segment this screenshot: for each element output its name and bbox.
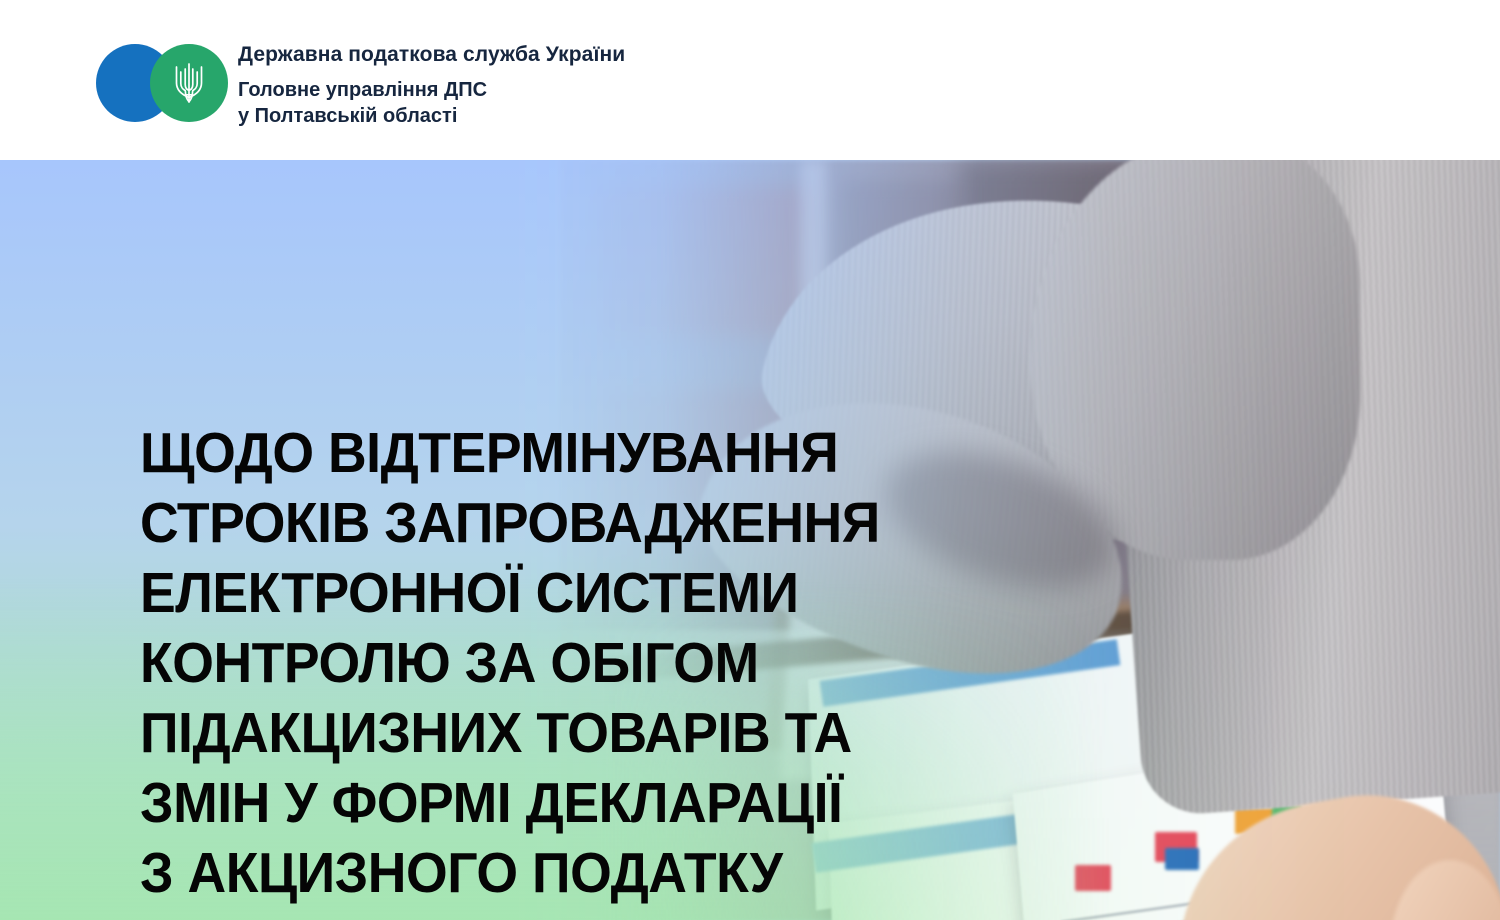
headline-line-2: СТРОКІВ ЗАПРОВАДЖЕННЯ: [140, 488, 920, 558]
hero-section: ЩОДО ВІДТЕРМІНУВАННЯ СТРОКІВ ЗАПРОВАДЖЕН…: [0, 160, 1500, 920]
headline-line-4: КОНТРОЛЮ ЗА ОБІГОМ: [140, 628, 920, 698]
headline: ЩОДО ВІДТЕРМІНУВАННЯ СТРОКІВ ЗАПРОВАДЖЕН…: [140, 418, 970, 908]
ukraine-trident-icon: [150, 44, 228, 122]
agency-logo[interactable]: [96, 44, 236, 122]
headline-line-1: ЩОДО ВІДТЕРМІНУВАННЯ: [140, 418, 920, 488]
agency-name-block: Державна податкова служба України Головн…: [238, 44, 625, 129]
headline-line-6: ЗМІН У ФОРМІ ДЕКЛАРАЦІЇ: [140, 768, 920, 838]
announcement-poster: ЩОДО ВІДТЕРМІНУВАННЯ СТРОКІВ ЗАПРОВАДЖЕН…: [0, 0, 1500, 920]
agency-name-region: у Полтавській області: [238, 104, 625, 130]
agency-name-primary: Державна податкова служба України: [238, 44, 625, 65]
headline-line-7: З АКЦИЗНОГО ПОДАТКУ: [140, 838, 920, 908]
headline-line-3: ЕЛЕКТРОННОЇ СИСТЕМИ: [140, 558, 920, 628]
headline-line-5: ПІДАКЦИЗНИХ ТОВАРІВ ТА: [140, 698, 920, 768]
header-band: Державна податкова служба України Головн…: [0, 0, 1500, 160]
agency-name-secondary: Головне управління ДПС: [238, 78, 625, 104]
